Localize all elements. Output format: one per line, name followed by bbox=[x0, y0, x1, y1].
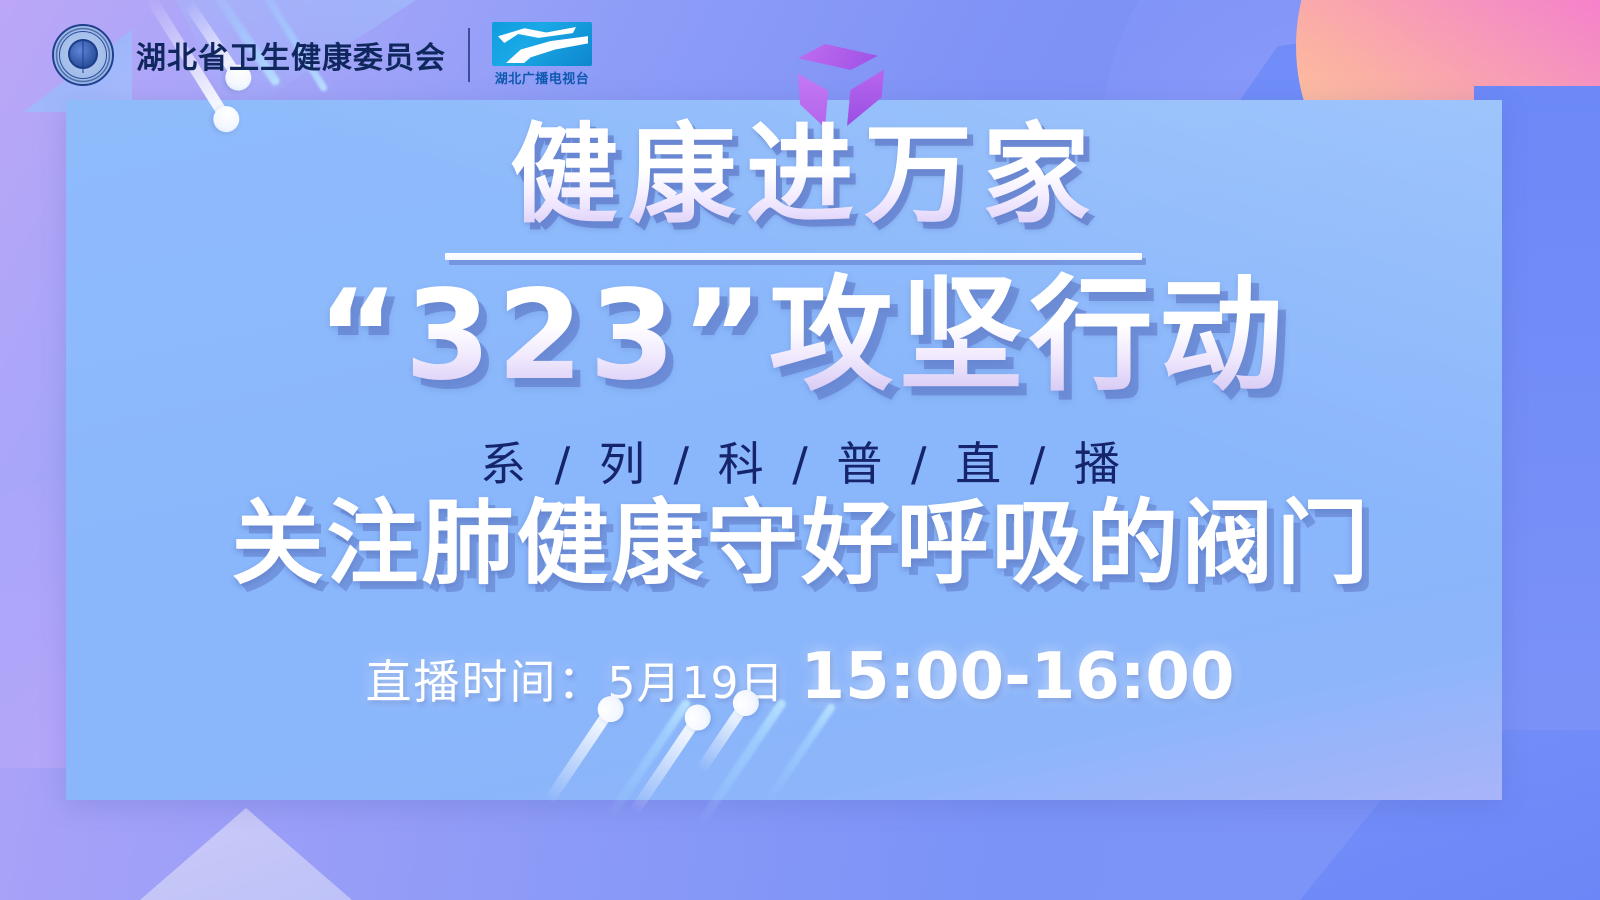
logo-divider bbox=[468, 28, 470, 82]
topic-headline: 关注肺健康守好呼吸的阀门 bbox=[0, 492, 1600, 595]
title-line-1: 健康进万家 bbox=[0, 118, 1600, 235]
poster-stage: 湖北省卫生健康委员会 湖北广播电视台 健康进万家 “323”攻坚行动 系 / 列… bbox=[0, 0, 1600, 900]
tv-station-mark-icon bbox=[492, 22, 592, 66]
broadcast-time-row: 直播时间： 5月19日 15:00-16:00 bbox=[0, 640, 1600, 714]
broadcast-time-label: 直播时间： bbox=[366, 646, 606, 712]
health-commission-emblem-icon bbox=[52, 24, 114, 86]
series-subtitle: 系 / 列 / 科 / 普 / 直 / 播 bbox=[0, 428, 1600, 494]
title-divider-rule bbox=[445, 253, 1142, 260]
tv-station-name: 湖北广播电视台 bbox=[492, 68, 592, 87]
tv-wave-lower bbox=[506, 35, 588, 63]
emblem-globe-icon bbox=[68, 39, 98, 69]
header-logo-bar: 湖北省卫生健康委员会 湖北广播电视台 bbox=[52, 22, 592, 87]
organization-name: 湖北省卫生健康委员会 bbox=[136, 33, 446, 77]
broadcast-hours: 15:00-16:00 bbox=[800, 640, 1234, 714]
poster-content: 健康进万家 “323”攻坚行动 系 / 列 / 科 / 普 / 直 / 播 关注… bbox=[0, 0, 1600, 900]
tv-station-logo: 湖北广播电视台 bbox=[492, 22, 592, 87]
title-line-2: “323”攻坚行动 bbox=[0, 268, 1600, 404]
